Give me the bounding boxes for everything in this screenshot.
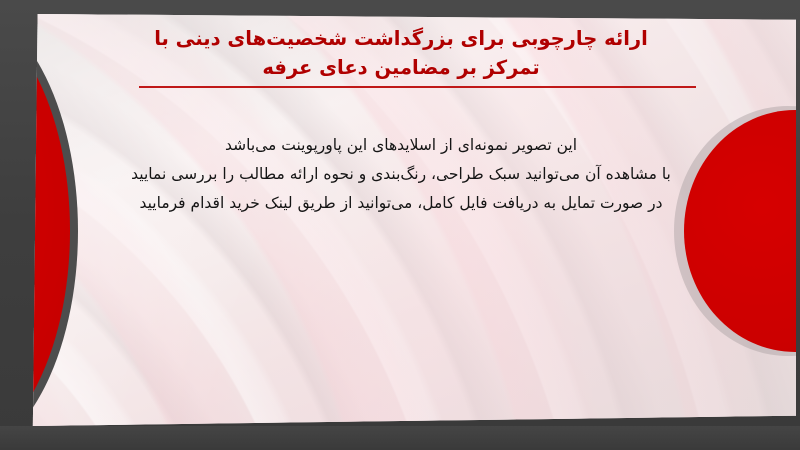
slide-content-area: ارائه چارچوبی برای بزرگداشت شخصیت‌های دی… bbox=[6, 14, 796, 426]
slide-canvas: ارائه چارچوبی برای بزرگداشت شخصیت‌های دی… bbox=[0, 0, 800, 450]
title-line-2: تمرکز بر مضامین دعای عرفه bbox=[98, 53, 704, 82]
bottom-frame-band bbox=[0, 426, 800, 450]
body-line-3: در صورت تمایل به دریافت فایل کامل، می‌تو… bbox=[102, 189, 700, 218]
body-line-2: با مشاهده آن می‌توانید سبک طراحی، رنگ‌بن… bbox=[102, 160, 700, 189]
slide-body-text: این تصویر نمونه‌ای از اسلایدهای این پاور… bbox=[102, 131, 700, 218]
title-line-1: ارائه چارچوبی برای بزرگداشت شخصیت‌های دی… bbox=[98, 24, 704, 53]
title-divider-rule bbox=[139, 86, 696, 88]
slide-title: ارائه چارچوبی برای بزرگداشت شخصیت‌های دی… bbox=[98, 24, 704, 82]
body-line-1: این تصویر نمونه‌ای از اسلایدهای این پاور… bbox=[102, 131, 700, 160]
